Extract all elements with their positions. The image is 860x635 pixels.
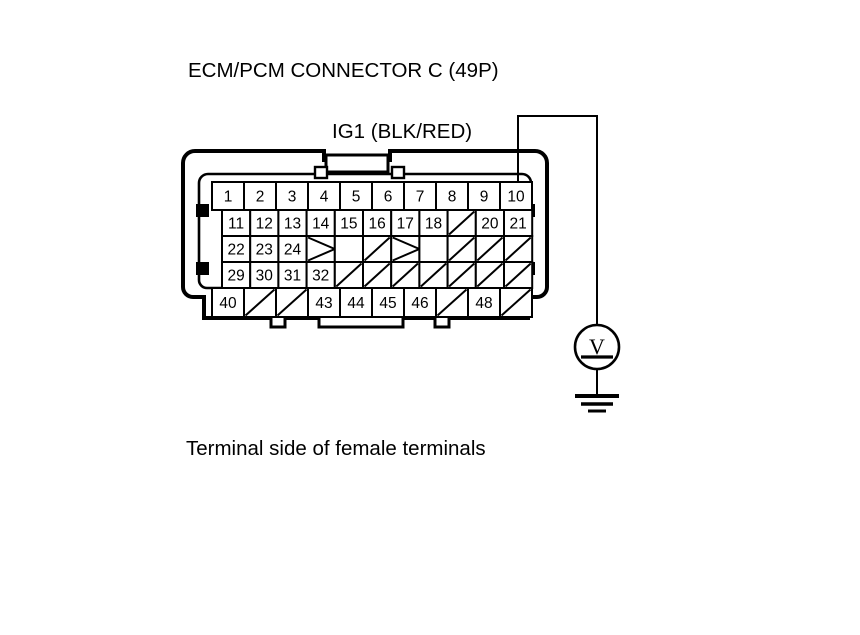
pin-cell[interactable]: 12 <box>250 210 278 236</box>
pin-cell[interactable]: 43 <box>308 288 340 317</box>
pin-number: 32 <box>312 268 329 285</box>
pin-number: 29 <box>227 268 244 285</box>
pin-number: 15 <box>340 216 357 233</box>
pin-cell[interactable]: 13 <box>278 210 306 236</box>
housing-latch-left-upper <box>196 204 209 217</box>
pin-cell[interactable]: 44 <box>340 288 372 317</box>
blank-cell <box>363 236 391 262</box>
diagram-caption: Terminal side of female terminals <box>186 437 486 460</box>
blank-cell <box>335 262 363 288</box>
lead-label-ig1: IG1 (BLK/RED) <box>332 120 472 143</box>
pin-cell[interactable]: 21 <box>504 210 532 236</box>
pin-cell[interactable]: 10 <box>500 182 532 210</box>
pin-number: 24 <box>284 242 302 259</box>
blank-cell <box>244 288 276 317</box>
pin-number: 1 <box>224 189 233 206</box>
pin-cell[interactable]: 11 <box>222 210 250 236</box>
pin-cell[interactable]: 32 <box>307 262 335 288</box>
pin-number: 46 <box>411 295 428 312</box>
blank-cell <box>500 288 532 317</box>
pin-number: 40 <box>219 295 237 312</box>
pin-cell[interactable]: 17 <box>391 210 419 236</box>
pin-row: 29303132 <box>222 262 532 288</box>
pin-cell[interactable]: 15 <box>335 210 363 236</box>
pin-number: 18 <box>425 216 442 233</box>
pin-cell[interactable]: 5 <box>340 182 372 210</box>
pin-cell[interactable]: 46 <box>404 288 436 317</box>
pin-cell[interactable]: 8 <box>436 182 468 210</box>
pin-cell[interactable]: 20 <box>476 210 504 236</box>
blank-cell <box>504 236 532 262</box>
blank-cell <box>448 210 476 236</box>
pin-row: 11121314151617182021 <box>222 210 532 236</box>
pin-number: 12 <box>256 216 273 233</box>
pin-grid: 1234567891011121314151617182021222324293… <box>212 182 532 317</box>
pin-number: 44 <box>347 295 365 312</box>
blank-cell <box>335 236 363 262</box>
pin-cell[interactable]: 48 <box>468 288 500 317</box>
pin-number: 8 <box>448 189 457 206</box>
pin-cell[interactable]: 45 <box>372 288 404 317</box>
ground-symbol <box>575 396 619 411</box>
pin-number: 22 <box>227 242 244 259</box>
pin-cell[interactable]: 3 <box>276 182 308 210</box>
pin-cell[interactable]: 40 <box>212 288 244 317</box>
pin-number: 21 <box>509 216 526 233</box>
pin-cell[interactable]: 30 <box>250 262 278 288</box>
blank-cell <box>391 262 419 288</box>
blank-cell <box>363 262 391 288</box>
blank-cell <box>419 262 447 288</box>
housing-top-notch <box>326 155 388 172</box>
pin-row: 404344454648 <box>212 288 532 317</box>
diagram-title: ECM/PCM CONNECTOR C (49P) <box>188 59 499 82</box>
housing-latch-left-lower <box>196 262 209 275</box>
pin-number: 5 <box>352 189 361 206</box>
pin-number: 48 <box>475 295 492 312</box>
pin-cell[interactable]: 2 <box>244 182 276 210</box>
blank-cell <box>276 288 308 317</box>
pin-number: 9 <box>480 189 489 206</box>
pin-row: 12345678910 <box>212 182 532 210</box>
voltmeter-label: V <box>589 334 605 359</box>
blank-cell <box>448 236 476 262</box>
blank-cell <box>504 262 532 288</box>
blank-cell <box>476 262 504 288</box>
pin-number: 13 <box>284 216 301 233</box>
pin-number: 31 <box>284 268 301 285</box>
pin-cell[interactable]: 6 <box>372 182 404 210</box>
pin-cell[interactable]: 29 <box>222 262 250 288</box>
housing-key-left <box>315 167 327 178</box>
pin-cell[interactable]: 14 <box>307 210 335 236</box>
pin-number: 4 <box>320 189 329 206</box>
pin-row: 222324 <box>222 236 532 262</box>
pin-number: 14 <box>312 216 330 233</box>
blank-cell <box>476 236 504 262</box>
pin-number: 3 <box>288 189 297 206</box>
pin-cell[interactable]: 23 <box>250 236 278 262</box>
pin-cell[interactable]: 16 <box>363 210 391 236</box>
voltmeter: V <box>575 325 619 395</box>
pin-number: 43 <box>315 295 332 312</box>
pin-number: 11 <box>228 216 244 233</box>
pin-cell[interactable]: 7 <box>404 182 436 210</box>
pin-number: 7 <box>416 189 425 206</box>
pin-number: 16 <box>368 216 385 233</box>
pin-cell[interactable]: 9 <box>468 182 500 210</box>
pin-cell[interactable]: 1 <box>212 182 244 210</box>
pin-cell[interactable]: 22 <box>222 236 250 262</box>
pin-number: 17 <box>397 216 414 233</box>
pin-number: 45 <box>379 295 396 312</box>
blank-cell <box>448 262 476 288</box>
pin-number: 10 <box>507 189 525 206</box>
pin-number: 20 <box>481 216 499 233</box>
blank-cell <box>419 236 447 262</box>
blank-cell <box>436 288 468 317</box>
pin-number: 6 <box>384 189 393 206</box>
pin-cell[interactable]: 31 <box>278 262 306 288</box>
connector-test-diagram: ECM/PCM CONNECTOR C (49P) IG1 (BLK/RED) <box>0 0 860 630</box>
pin-cell[interactable]: 4 <box>308 182 340 210</box>
pin-cell[interactable]: 18 <box>419 210 447 236</box>
pin-number: 2 <box>256 189 265 206</box>
pin-number: 23 <box>256 242 273 259</box>
pin-cell[interactable]: 24 <box>278 236 306 262</box>
housing-key-right <box>392 167 404 178</box>
pin-number: 30 <box>256 268 274 285</box>
